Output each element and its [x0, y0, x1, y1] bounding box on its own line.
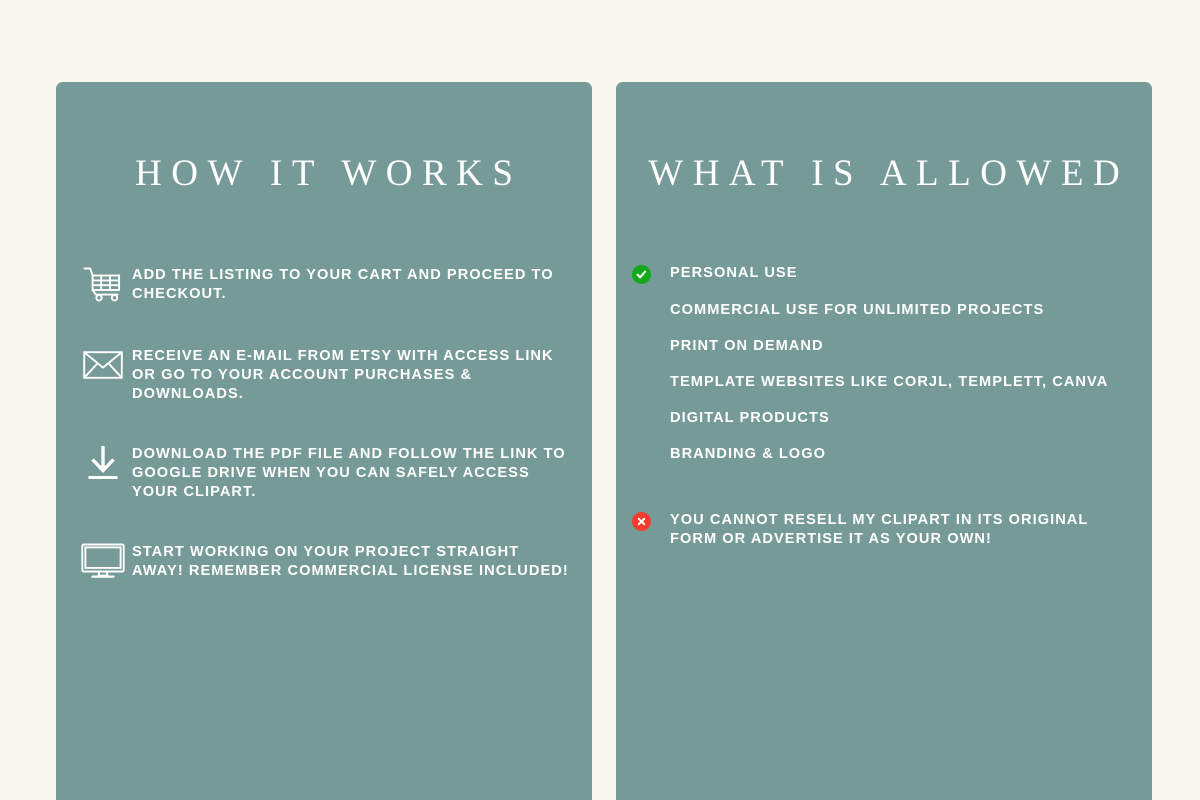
list-item-label: ADD THE LISTING TO YOUR CART AND PROCEED… — [132, 260, 572, 304]
badge-slot — [632, 301, 670, 302]
list-item: ADD THE LISTING TO YOUR CART AND PROCEED… — [74, 260, 572, 306]
list-item: BRANDING & LOGO — [632, 445, 1136, 464]
how-it-works-panel: HOW IT WORKS ADD THE LISTING TO YOUR CAR… — [56, 82, 592, 800]
shopping-cart-icon — [74, 262, 132, 306]
download-icon — [74, 441, 132, 485]
list-item: RECEIVE AN E-MAIL FROM ETSY WITH ACCESS … — [74, 341, 572, 404]
list-item-label: RECEIVE AN E-MAIL FROM ETSY WITH ACCESS … — [132, 341, 572, 404]
list-item-label: START WORKING ON YOUR PROJECT STRAIGHT A… — [132, 537, 572, 581]
how-it-works-steps: ADD THE LISTING TO YOUR CART AND PROCEED… — [74, 260, 572, 618]
list-item-label: PERSONAL USE — [670, 264, 797, 283]
green-check-circle-icon — [632, 264, 670, 284]
list-item: DOWNLOAD THE PDF FILE AND FOLLOW THE LIN… — [74, 439, 572, 502]
not-allowed-item: YOU CANNOT RESELL MY CLIPART IN ITS ORIG… — [632, 511, 1136, 549]
list-item: COMMERCIAL USE FOR UNLIMITED PROJECTS — [632, 301, 1136, 320]
list-item-label: DOWNLOAD THE PDF FILE AND FOLLOW THE LIN… — [132, 439, 572, 502]
list-item-label: BRANDING & LOGO — [670, 445, 826, 464]
list-item: DIGITAL PRODUCTS — [632, 409, 1136, 428]
list-item: START WORKING ON YOUR PROJECT STRAIGHT A… — [74, 537, 572, 583]
what-is-allowed-panel: WHAT IS ALLOWED PERSONAL USE COMMERCIAL … — [616, 82, 1152, 800]
list-item: PRINT ON DEMAND — [632, 337, 1136, 356]
badge-slot — [632, 409, 670, 410]
list-item-label: TEMPLATE WEBSITES LIKE CORJL, TEMPLETT, … — [670, 373, 1108, 392]
envelope-icon — [74, 343, 132, 387]
list-item: TEMPLATE WEBSITES LIKE CORJL, TEMPLETT, … — [632, 373, 1136, 392]
monitor-icon — [74, 539, 132, 583]
list-item: PERSONAL USE — [632, 264, 1136, 284]
red-x-circle-icon — [632, 511, 670, 531]
badge-slot — [632, 445, 670, 446]
list-item-label: COMMERCIAL USE FOR UNLIMITED PROJECTS — [670, 301, 1044, 320]
list-item-label: DIGITAL PRODUCTS — [670, 409, 830, 428]
list-item-label: PRINT ON DEMAND — [670, 337, 824, 356]
what-is-allowed-title: WHAT IS ALLOWED — [616, 152, 1152, 195]
allowed-list: PERSONAL USE COMMERCIAL USE FOR UNLIMITE… — [632, 264, 1136, 566]
not-allowed-label: YOU CANNOT RESELL MY CLIPART IN ITS ORIG… — [670, 511, 1136, 549]
badge-slot — [632, 373, 670, 374]
badge-slot — [632, 337, 670, 338]
how-it-works-title: HOW IT WORKS — [56, 152, 592, 195]
